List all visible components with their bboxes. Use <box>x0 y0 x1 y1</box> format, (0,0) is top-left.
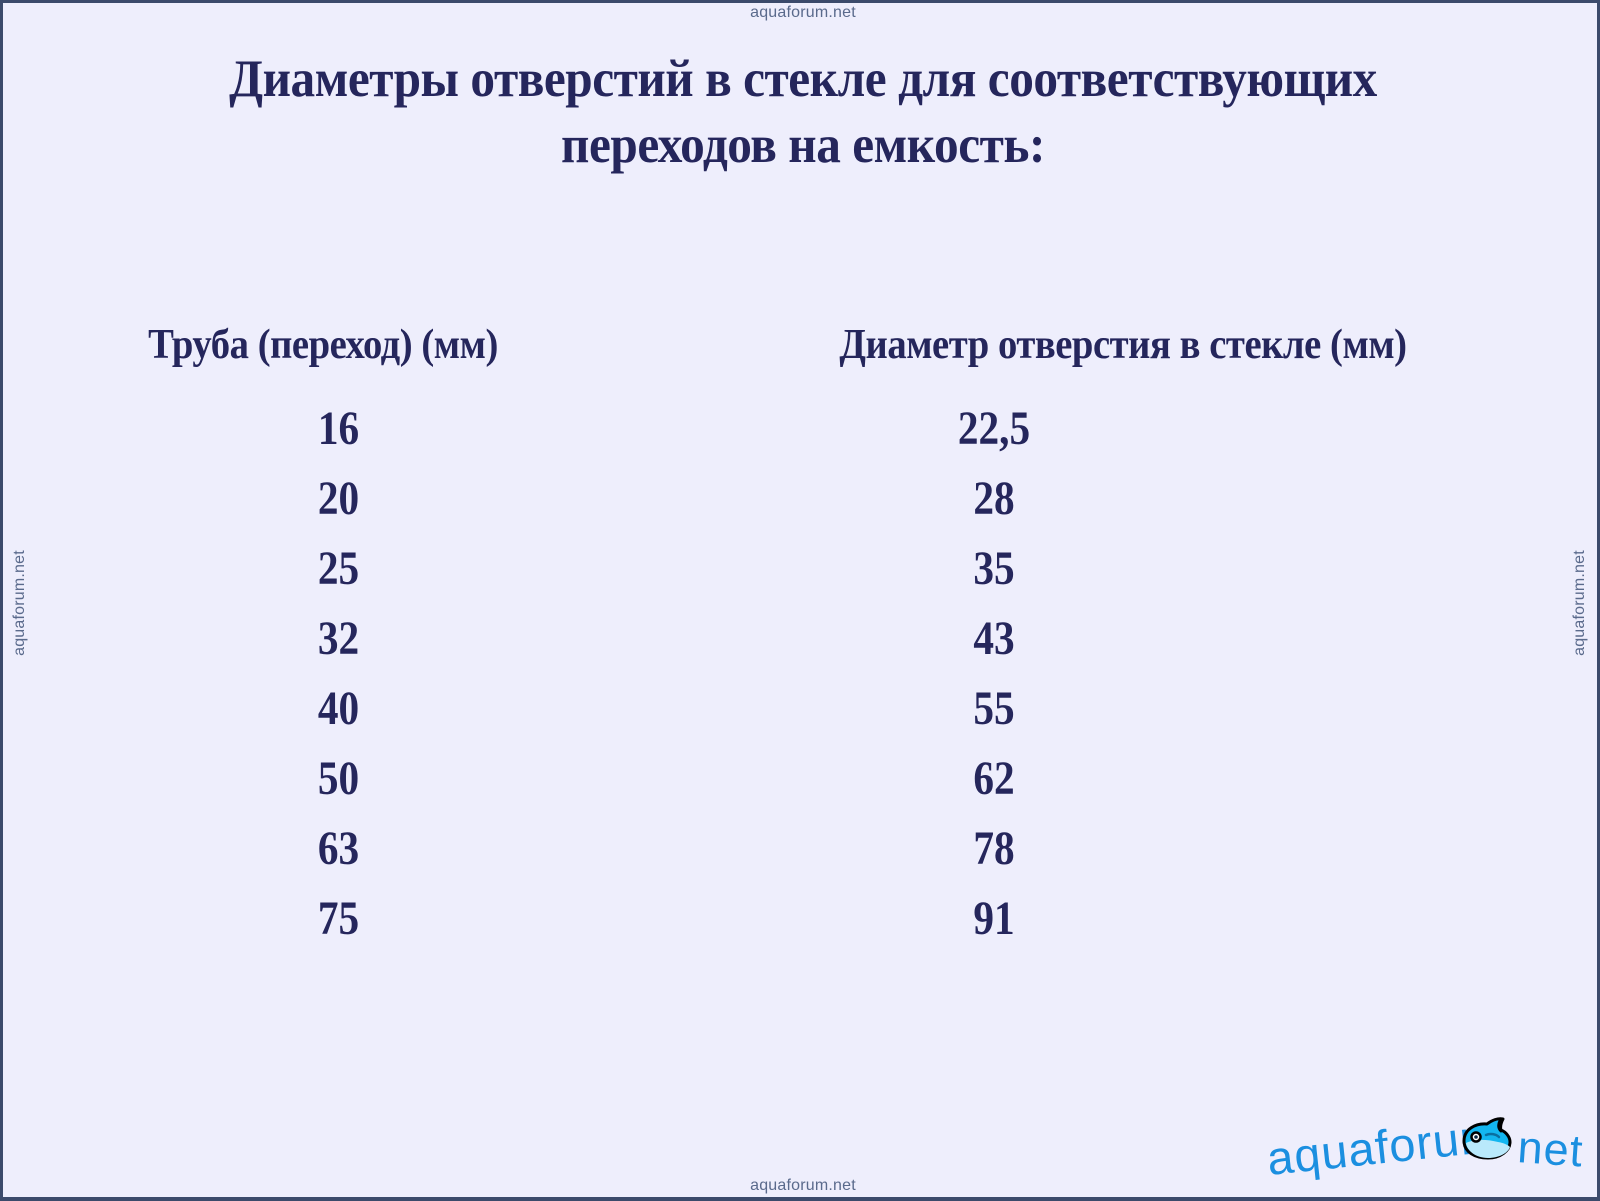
document-page: aquaforum.net aquaforum.net aquaforum.ne… <box>0 0 1600 1201</box>
cell-pipe: 20 <box>48 475 598 523</box>
table-body: 16 22,5 20 28 25 35 32 43 40 55 50 62 <box>3 405 1600 965</box>
table-row: 16 22,5 <box>3 405 1600 475</box>
aquaforum-logo: aquaforum net <box>1258 1101 1588 1181</box>
cell-hole: 78 <box>710 825 1536 873</box>
cell-hole: 28 <box>710 475 1536 523</box>
diameter-table: Труба (переход) (мм) Диаметр отверстия в… <box>3 321 1600 965</box>
cell-pipe: 63 <box>48 825 598 873</box>
cell-pipe: 25 <box>48 545 598 593</box>
page-title-line-1: Диаметры отверстий в стекле для соответс… <box>59 47 1547 113</box>
table-row: 40 55 <box>3 685 1600 755</box>
cell-pipe: 16 <box>48 405 598 453</box>
table-row: 50 62 <box>3 755 1600 825</box>
cell-hole: 22,5 <box>710 405 1536 453</box>
cell-pipe: 40 <box>48 685 598 733</box>
table-row: 63 78 <box>3 825 1600 895</box>
page-title: Диаметры отверстий в стекле для соответс… <box>59 47 1547 178</box>
cell-hole: 62 <box>710 755 1536 803</box>
table-row: 75 91 <box>3 895 1600 965</box>
logo-word-net: net <box>1516 1121 1585 1177</box>
cell-hole: 91 <box>710 895 1536 943</box>
fish-icon <box>1456 1115 1518 1163</box>
cell-hole: 43 <box>710 615 1536 663</box>
cell-pipe: 75 <box>48 895 598 943</box>
cell-hole: 55 <box>710 685 1536 733</box>
page-title-line-2: переходов на емкость: <box>59 113 1547 179</box>
column-header-pipe: Труба (переход) (мм) <box>29 321 618 369</box>
cell-hole: 35 <box>710 545 1536 593</box>
watermark-top: aquaforum.net <box>3 4 1600 22</box>
cell-pipe: 32 <box>48 615 598 663</box>
column-header-hole: Диаметр отверстия в стекле (мм) <box>681 321 1564 369</box>
table-row: 32 43 <box>3 615 1600 685</box>
table-row: 20 28 <box>3 475 1600 545</box>
table-row: 25 35 <box>3 545 1600 615</box>
cell-pipe: 50 <box>48 755 598 803</box>
table-header-row: Труба (переход) (мм) Диаметр отверстия в… <box>3 321 1600 369</box>
